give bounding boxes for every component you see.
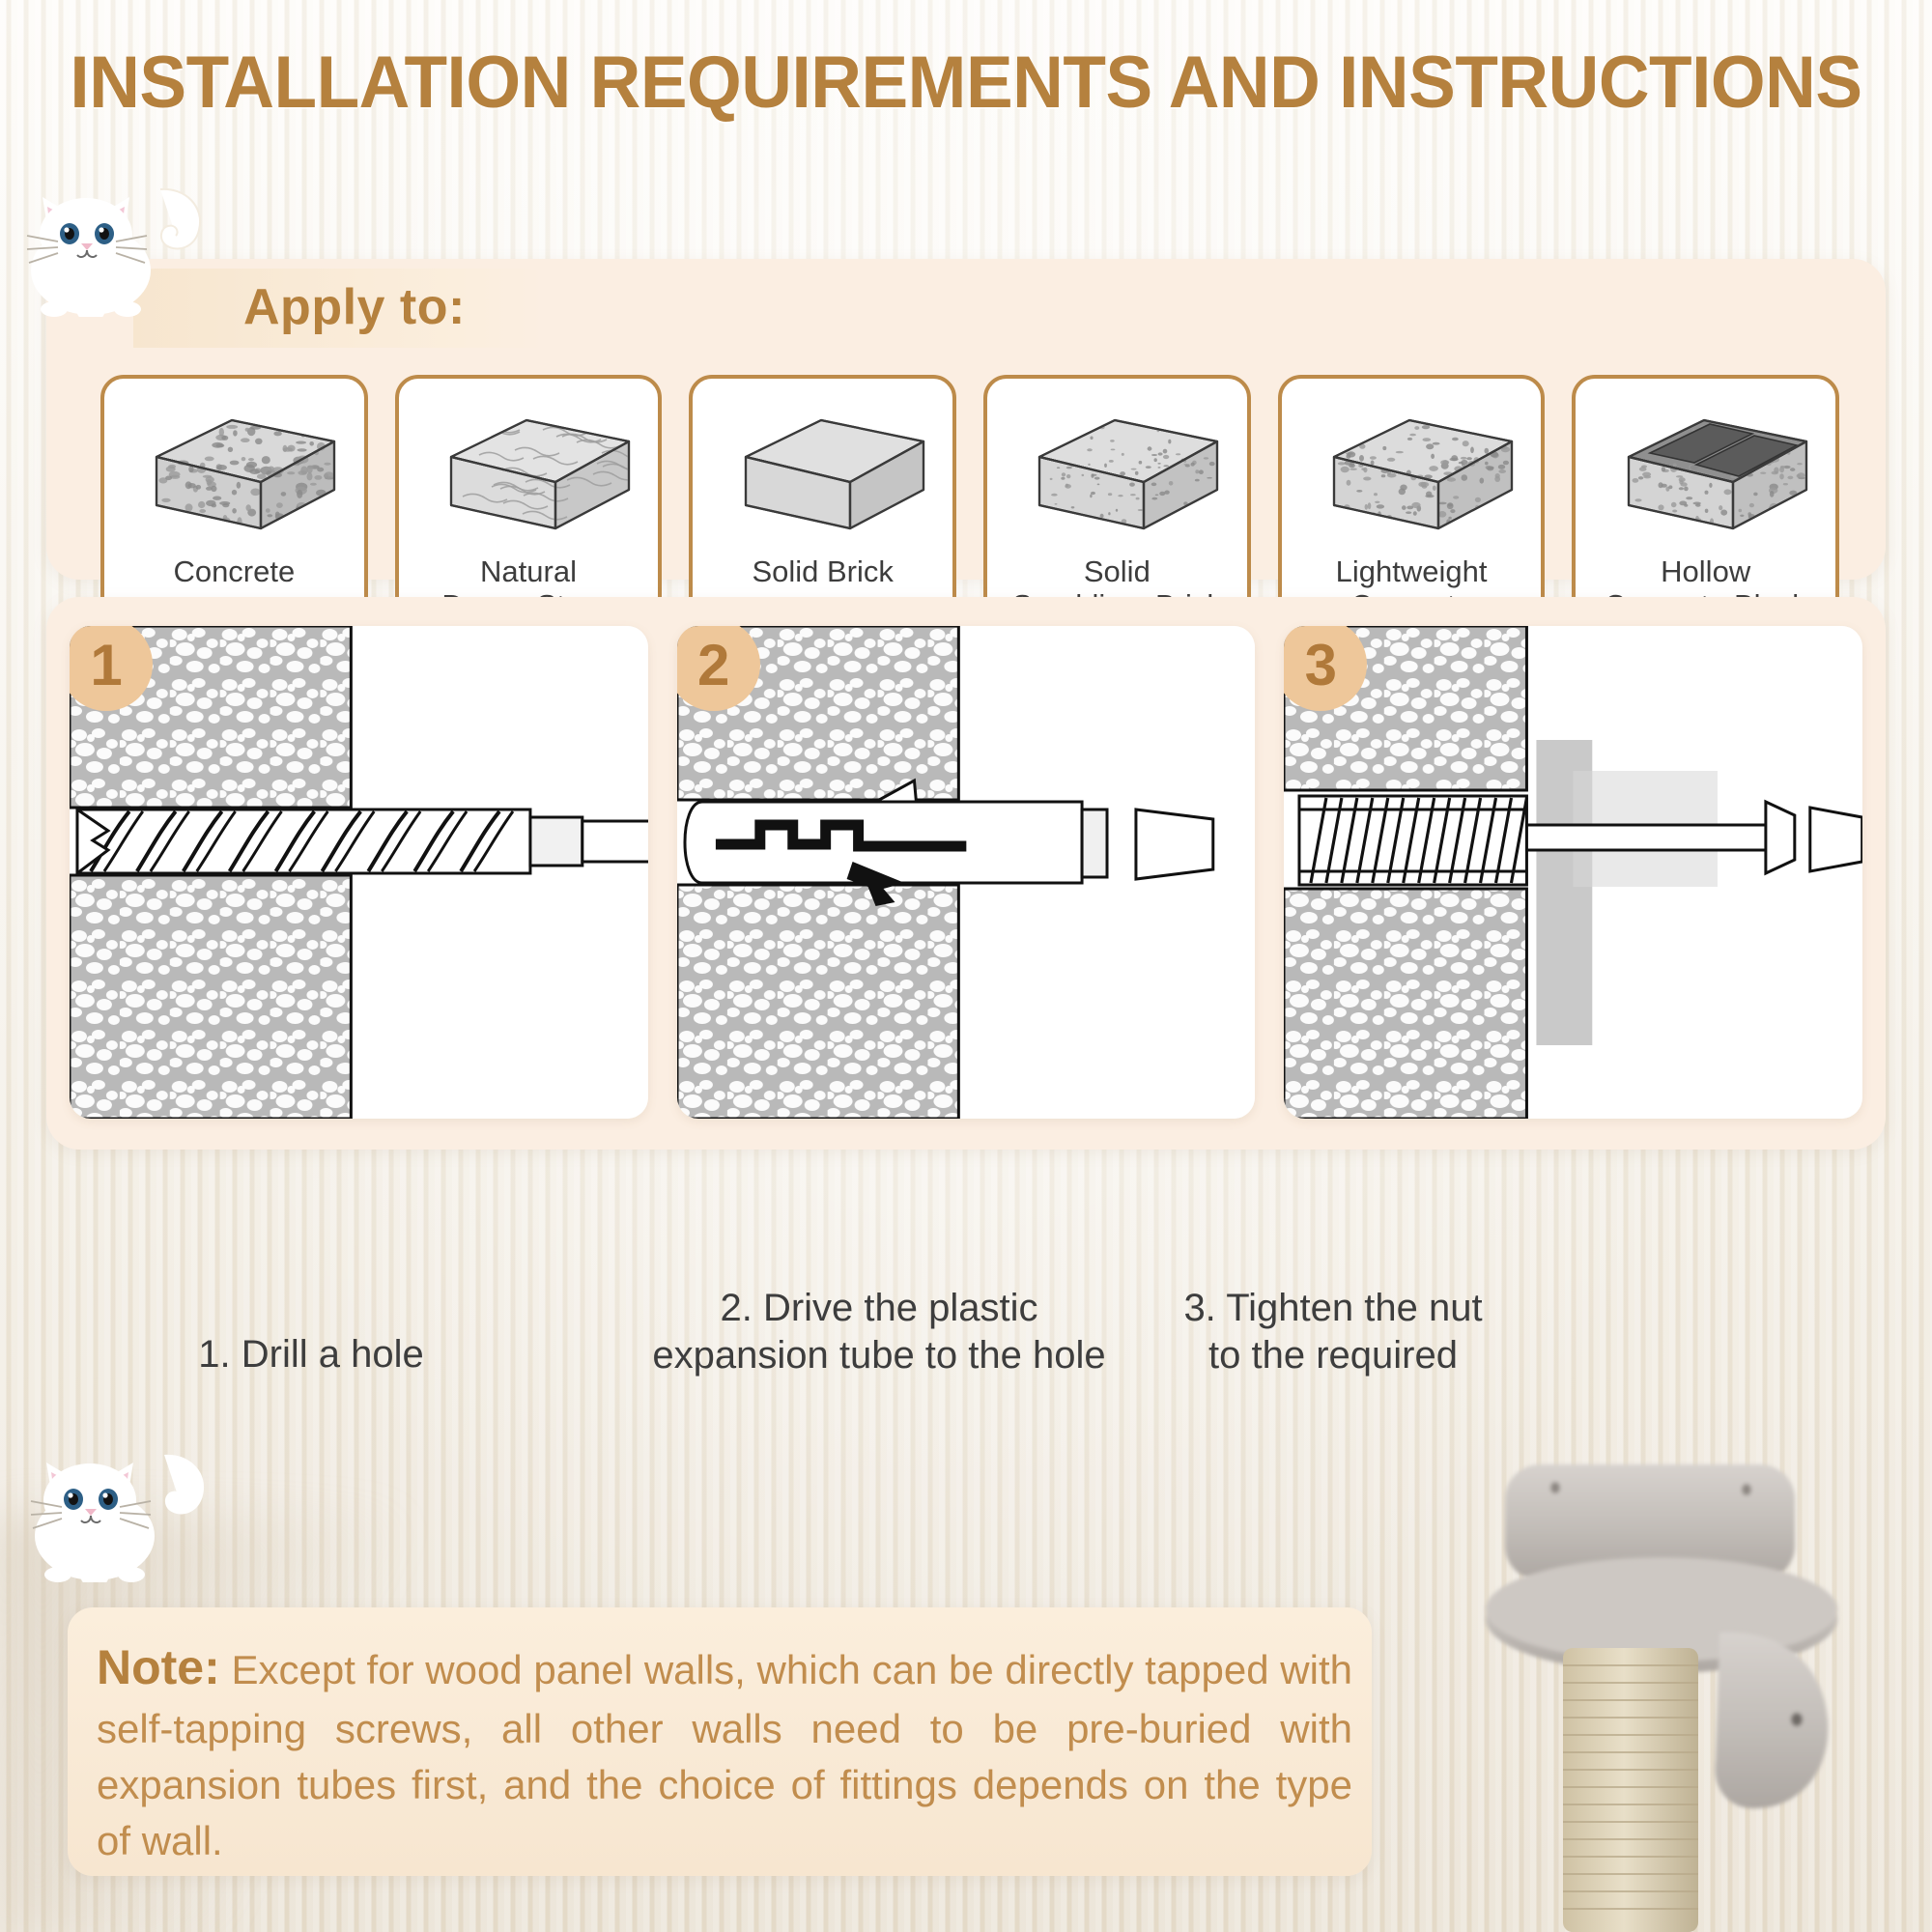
step-caption-2: 2. Drive the plastic expansion tube to t…: [609, 1285, 1150, 1379]
step-list: 123: [70, 626, 1862, 1119]
material-block-block-stone: [412, 401, 644, 546]
material-card-label: Solid Brick: [746, 554, 898, 588]
material-block-block-plain: [707, 401, 939, 546]
page-title: INSTALLATION REQUIREMENTS AND INSTRUCTIO…: [39, 44, 1893, 121]
cat-illustration-bottom: [19, 1447, 222, 1582]
step-illustration: [677, 626, 1256, 1119]
material-block-block-speckle-fine: [1001, 401, 1233, 546]
cat-tree-photo: [1391, 1430, 1932, 1932]
material-block-icon: [104, 392, 364, 554]
step-caption-1: 1. Drill a hole: [70, 1331, 553, 1378]
step-art-drill-bit: [70, 626, 648, 1119]
cat-illustration-top: [15, 182, 218, 317]
step-caption-3: 3. Tighten the nut to the required: [1072, 1285, 1594, 1379]
material-block-icon: [399, 392, 659, 554]
step-art-expansion-tube: [677, 626, 1256, 1119]
apply-to-label: Apply to:: [243, 278, 466, 336]
note-label: Note:: [97, 1640, 220, 1694]
step-art-screw-nut: [1284, 626, 1862, 1119]
material-block-icon: [693, 392, 952, 554]
material-block-icon: [987, 392, 1247, 554]
step-panel-3: 3: [1284, 626, 1862, 1119]
material-block-icon: [1576, 392, 1835, 554]
material-card-label: Concrete: [167, 554, 300, 588]
step-illustration: [1284, 626, 1862, 1119]
material-block-icon: [1282, 392, 1542, 554]
note-text: Note: Except for wood panel walls, which…: [97, 1634, 1352, 1869]
note-body: Except for wood panel walls, which can b…: [97, 1647, 1352, 1863]
step-illustration: [70, 626, 648, 1119]
step-panel-2: 2: [677, 626, 1256, 1119]
material-block-block-porous: [118, 401, 350, 546]
step-panel-1: 1: [70, 626, 648, 1119]
material-block-block-speckle: [1295, 401, 1527, 546]
material-block-block-hollow: [1590, 401, 1822, 546]
